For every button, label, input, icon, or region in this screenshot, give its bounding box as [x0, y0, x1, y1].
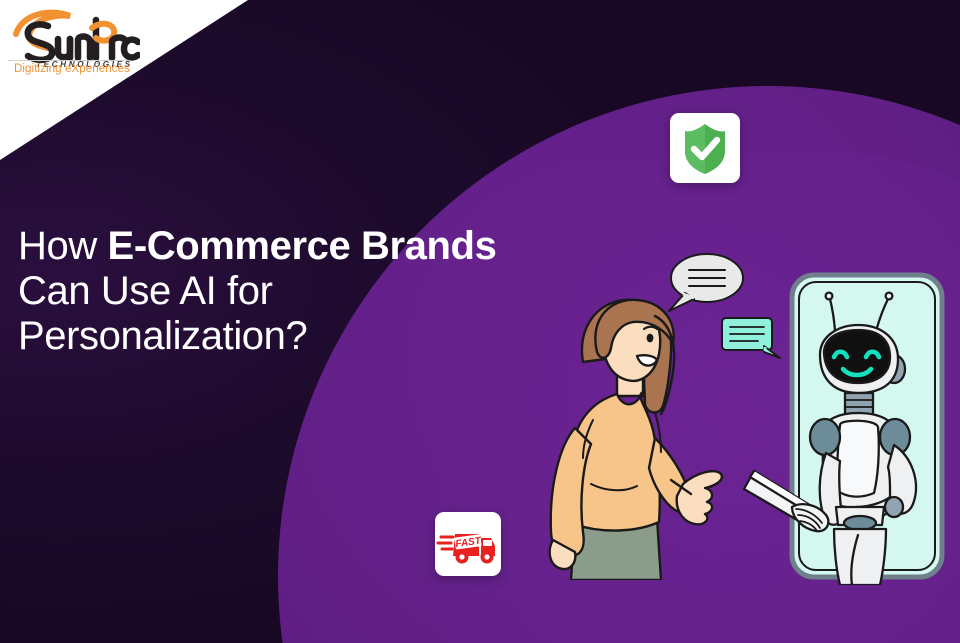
headline-normal-text: How	[18, 224, 108, 268]
logo-divider	[8, 60, 130, 61]
headline-line-1: How E-Commerce Brands	[18, 224, 578, 269]
page-title: How E-Commerce Brands Can Use AI for Per…	[18, 224, 578, 359]
logo-tagline: Digitizing eXperiences	[14, 63, 130, 75]
fast-delivery-badge-card[interactable]: FAST	[435, 512, 501, 576]
woman-shopper-illustration	[525, 288, 735, 580]
security-badge-card[interactable]	[670, 113, 740, 183]
headline-line-2: Can Use AI for	[18, 269, 578, 314]
hero-banner: TECHNOLOGIES Digitizing eXperiences How …	[0, 0, 960, 643]
headline-bold-text: E-Commerce Brands	[108, 224, 497, 268]
audio-waveform-decoration	[14, 404, 292, 514]
ai-assistant-robot-illustration	[740, 285, 955, 585]
headline-line-3: Personalization?	[18, 314, 578, 359]
